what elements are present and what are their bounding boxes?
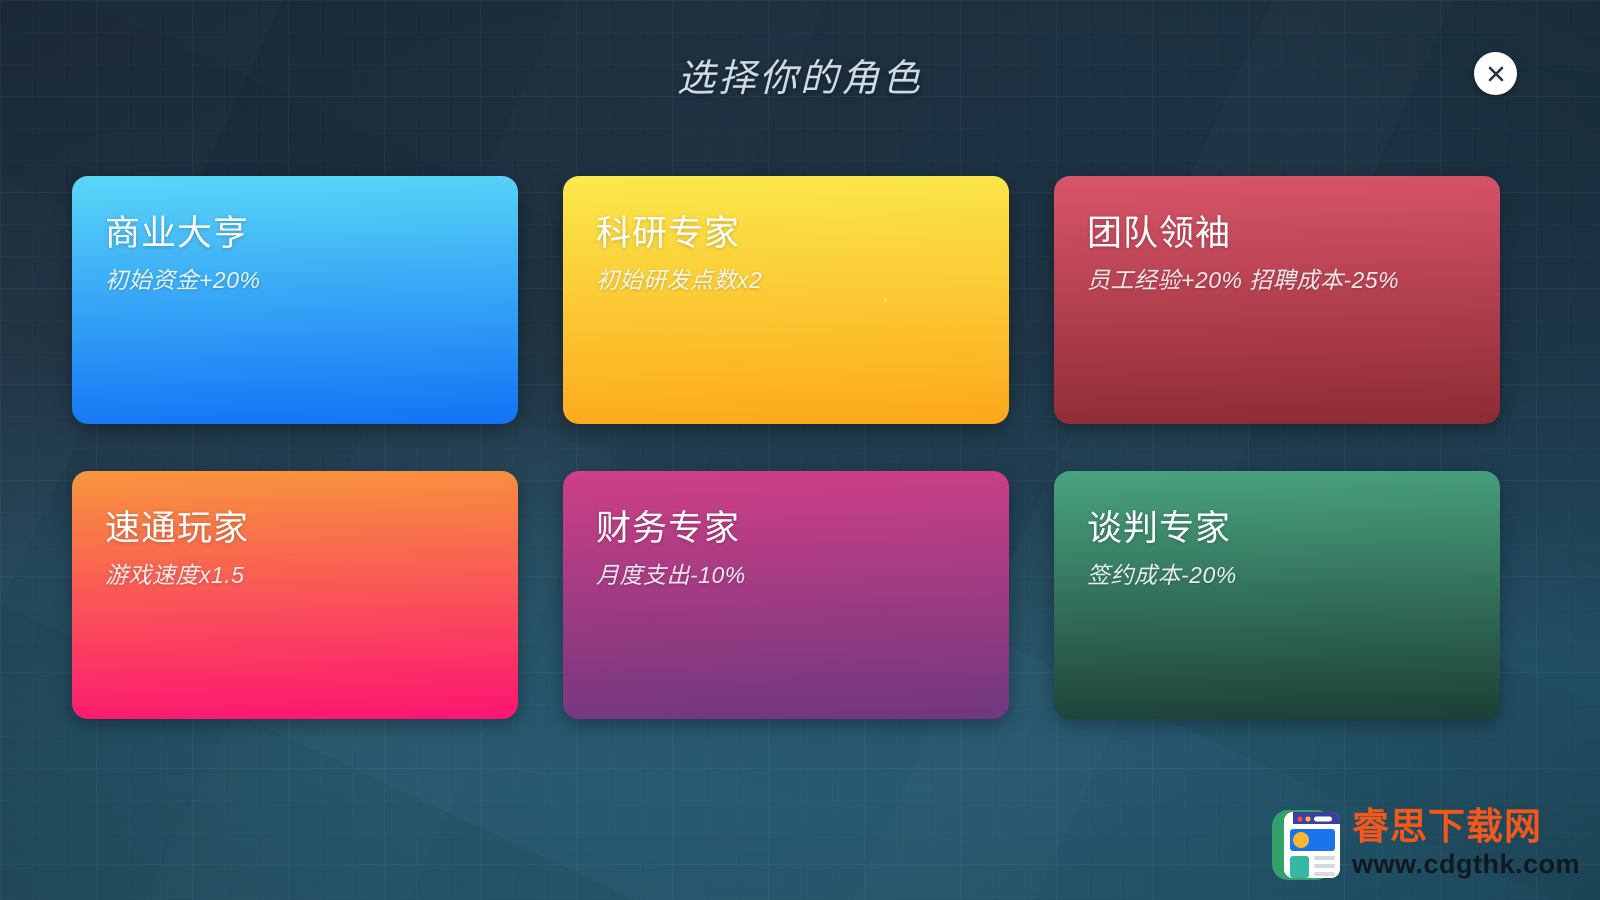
card-perk: 月度支出-10% (596, 556, 1009, 590)
character-card-grid: 商业大亨 初始资金+20% 科研专家 初始研发点数x2 团队领袖 员工经验+20… (72, 176, 1500, 719)
card-perk: 签约成本-20% (1087, 556, 1500, 590)
watermark-text: 睿思下载网 www.cdgthk.com (1352, 808, 1580, 878)
watermark: 睿思下载网 www.cdgthk.com (1270, 793, 1590, 893)
watermark-site-name: 睿思下载网 (1352, 808, 1580, 845)
card-perk: 游戏速度x1.5 (105, 556, 518, 590)
character-card-team-leader[interactable]: 团队领袖 员工经验+20% 招聘成本-25% (1054, 176, 1500, 424)
card-title: 财务专家 (596, 509, 1009, 548)
card-perk: 初始资金+20% (105, 261, 518, 295)
character-card-finance-expert[interactable]: 财务专家 月度支出-10% (563, 471, 1009, 719)
character-select-screen: 选择你的角色 商业大亨 初始资金+20% 科研专家 初始研发点数x2 团队领袖 … (0, 0, 1600, 900)
close-icon (1485, 63, 1507, 85)
card-title: 商业大亨 (105, 214, 518, 253)
character-card-business-tycoon[interactable]: 商业大亨 初始资金+20% (72, 176, 518, 424)
character-card-research-expert[interactable]: 科研专家 初始研发点数x2 (563, 176, 1009, 424)
card-title: 谈判专家 (1087, 509, 1500, 548)
page-title: 选择你的角色 (0, 47, 1600, 102)
card-perk: 初始研发点数x2 (596, 261, 1009, 295)
card-title: 科研专家 (596, 214, 1009, 253)
close-button[interactable] (1474, 52, 1517, 95)
card-title: 团队领袖 (1087, 214, 1500, 253)
card-perk: 员工经验+20% 招聘成本-25% (1087, 261, 1500, 295)
watermark-url: www.cdgthk.com (1352, 851, 1580, 878)
character-card-negotiation-expert[interactable]: 谈判专家 签约成本-20% (1054, 471, 1500, 719)
character-card-speedrunner[interactable]: 速通玩家 游戏速度x1.5 (72, 471, 518, 719)
cursor-dot (884, 299, 887, 302)
card-title: 速通玩家 (105, 509, 518, 548)
browser-window-logo-icon (1270, 802, 1342, 884)
